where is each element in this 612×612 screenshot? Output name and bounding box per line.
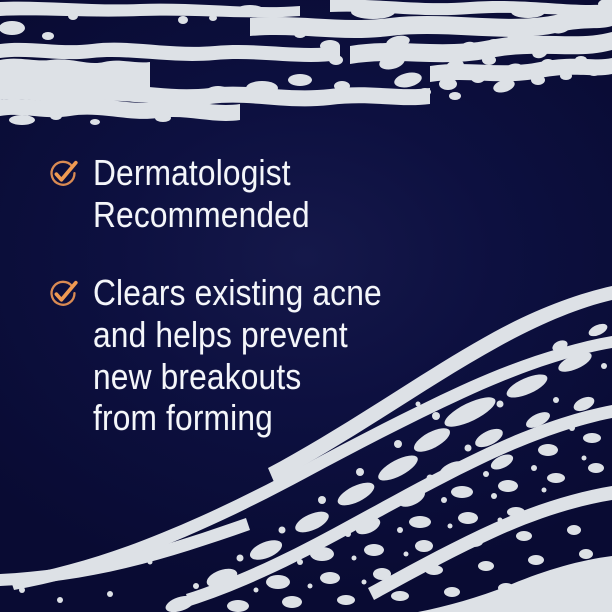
benefit-item-1: Dermatologist Recommended xyxy=(48,152,339,236)
benefit-text-1: Dermatologist Recommended xyxy=(93,152,310,236)
benefit-text-2: Clears existing acne and helps prevent n… xyxy=(93,272,382,439)
check-circle-icon xyxy=(48,279,78,309)
benefit-item-2: Clears existing acne and helps prevent n… xyxy=(48,272,421,439)
check-circle-icon xyxy=(48,159,78,189)
promo-banner: Dermatologist Recommended Clears existin… xyxy=(0,0,612,612)
benefits-list: Dermatologist Recommended Clears existin… xyxy=(0,0,612,612)
